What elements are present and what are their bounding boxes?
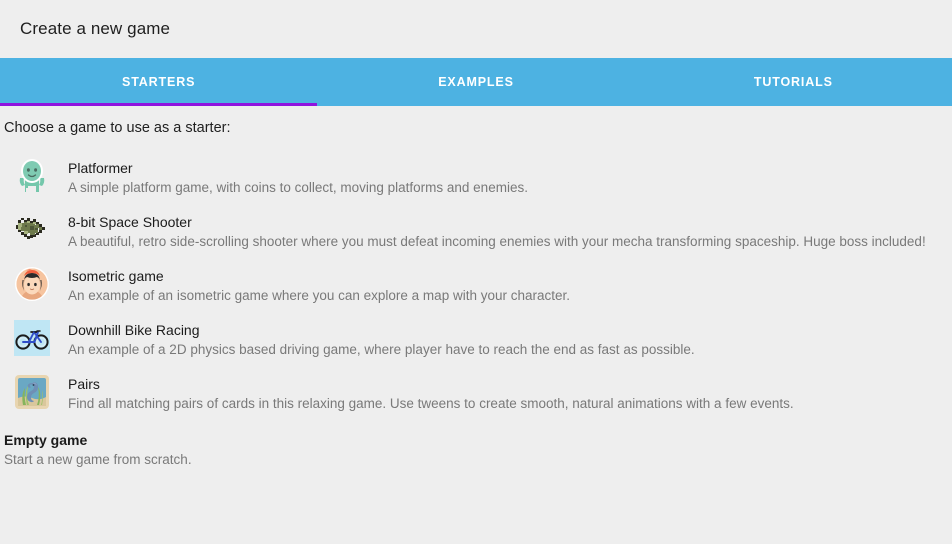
starter-description: Find all matching pairs of cards in this…	[68, 394, 940, 414]
list-item[interactable]: Pairs Find all matching pairs of cards i…	[0, 367, 952, 421]
starter-text: 8-bit Space Shooter A beautiful, retro s…	[68, 212, 940, 252]
tab-examples-label: EXAMPLES	[438, 75, 514, 89]
tab-tutorials-label: TUTORIALS	[754, 75, 833, 89]
empty-game-item[interactable]: Empty game Start a new game from scratch…	[0, 421, 952, 470]
starter-name: Downhill Bike Racing	[68, 321, 940, 340]
tab-starters-label: STARTERS	[122, 75, 195, 89]
starter-text: Isometric game An example of an isometri…	[68, 266, 940, 306]
list-item[interactable]: Downhill Bike Racing An example of a 2D …	[0, 313, 952, 367]
tab-bar: STARTERS EXAMPLES TUTORIALS	[0, 58, 952, 106]
starter-name: 8-bit Space Shooter	[68, 213, 940, 232]
starter-name: Isometric game	[68, 267, 940, 286]
tab-examples[interactable]: EXAMPLES	[317, 58, 634, 106]
starter-text: Pairs Find all matching pairs of cards i…	[68, 374, 940, 414]
seahorse-card-icon	[14, 374, 50, 410]
starter-name: Pairs	[68, 375, 940, 394]
starter-description: An example of a 2D physics based driving…	[68, 340, 940, 360]
list-item[interactable]: Isometric game An example of an isometri…	[0, 259, 952, 313]
space-shooter-ship-icon	[14, 212, 50, 248]
list-item[interactable]: Platformer A simple platform game, with …	[0, 137, 952, 205]
dialog-header: Create a new game	[0, 0, 952, 58]
starter-list: Platformer A simple platform game, with …	[0, 137, 952, 421]
list-item[interactable]: 8-bit Space Shooter A beautiful, retro s…	[0, 205, 952, 259]
isometric-character-avatar-icon	[14, 266, 50, 302]
starter-name: Platformer	[68, 159, 940, 178]
choose-starter-label: Choose a game to use as a starter:	[0, 106, 952, 137]
bicycle-icon	[14, 320, 50, 356]
create-new-game-dialog: Create a new game STARTERS EXAMPLES TUTO…	[0, 0, 952, 544]
starter-description: A simple platform game, with coins to co…	[68, 178, 940, 198]
dialog-body: Choose a game to use as a starter:	[0, 106, 952, 544]
starter-description: An example of an isometric game where yo…	[68, 286, 940, 306]
tab-tutorials[interactable]: TUTORIALS	[635, 58, 952, 106]
starter-text: Downhill Bike Racing An example of a 2D …	[68, 320, 940, 360]
empty-game-description: Start a new game from scratch.	[4, 450, 940, 470]
starter-text: Platformer A simple platform game, with …	[68, 158, 940, 198]
starter-description: A beautiful, retro side-scrolling shoote…	[68, 232, 940, 252]
platformer-alien-icon	[14, 158, 50, 194]
page-title: Create a new game	[20, 18, 170, 40]
empty-game-name: Empty game	[4, 430, 940, 450]
tab-starters[interactable]: STARTERS	[0, 58, 317, 106]
